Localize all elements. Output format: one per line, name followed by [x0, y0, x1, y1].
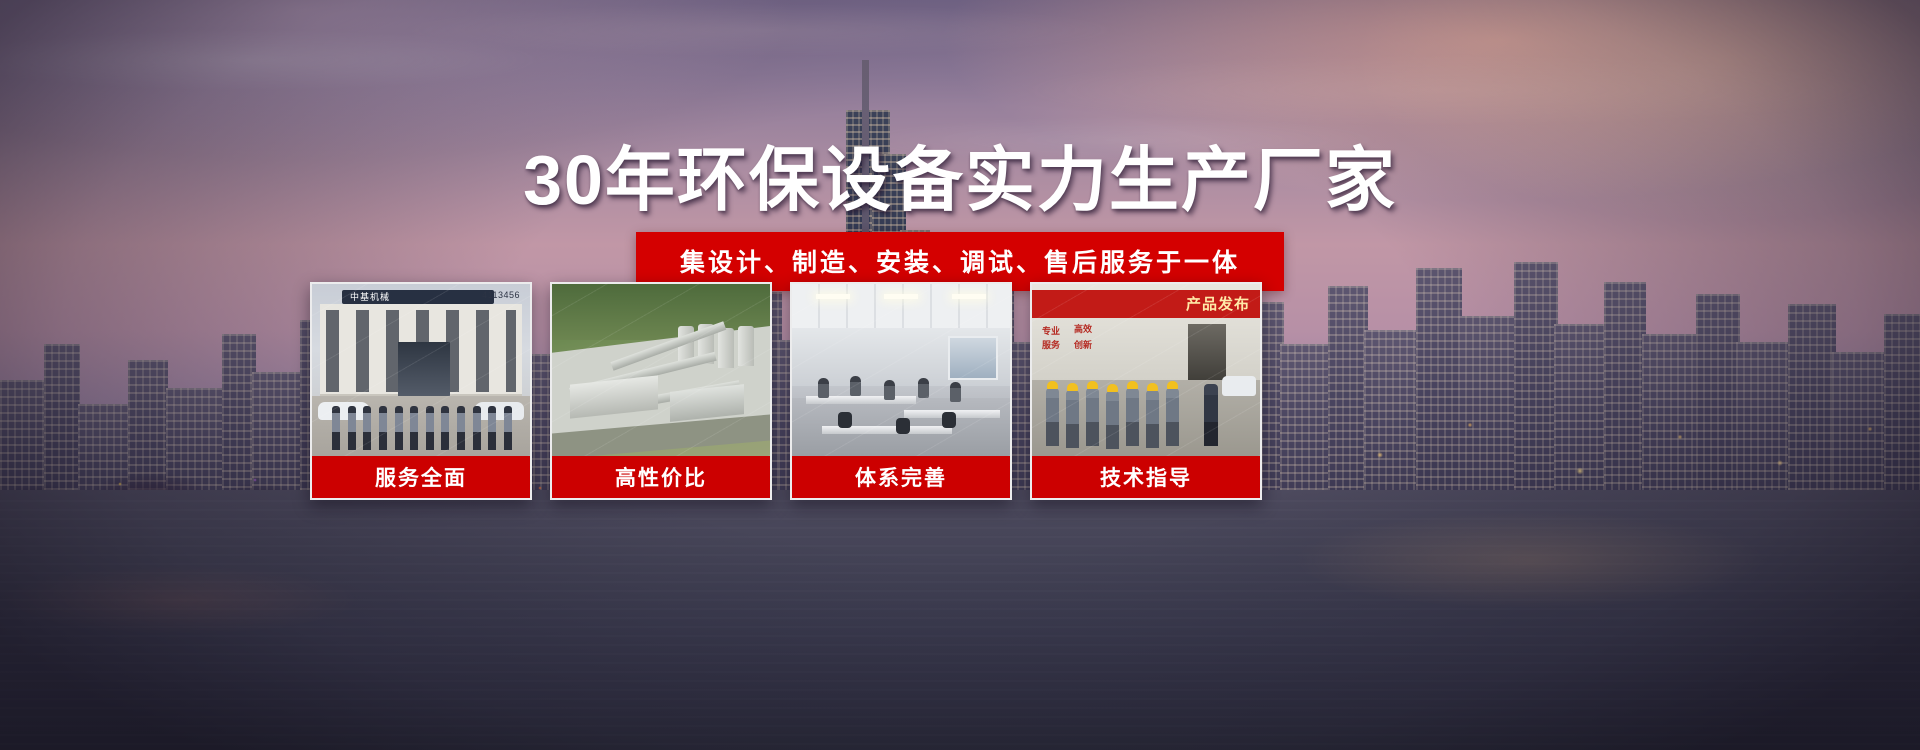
card-photo: 产品发布 专业 服务 高效 创新: [1032, 284, 1260, 456]
card-caption: 体系完善: [792, 456, 1010, 498]
company-sign-text: 中基机械: [350, 291, 390, 303]
banner-headline: 30年环保设备实力生产厂家: [523, 145, 1397, 215]
hero-banner: 30年环保设备实力生产厂家 集设计、制造、安装、调试、售后服务于一体 中基机械 …: [0, 0, 1920, 750]
feature-card[interactable]: 产品发布 专业 服务 高效 创新: [1030, 282, 1262, 500]
feature-card-row: 中基机械 4113456 服务全面: [310, 282, 1610, 496]
feature-card[interactable]: 中基机械 4113456 服务全面: [310, 282, 532, 500]
feature-card[interactable]: 高性价比: [550, 282, 772, 500]
card-photo: [552, 284, 770, 456]
company-sign: 中基机械: [342, 290, 494, 304]
feature-card[interactable]: 体系完善: [790, 282, 1012, 500]
card-photo: [792, 284, 1010, 456]
workshop-banner: 产品发布: [1032, 290, 1260, 318]
card-caption: 技术指导: [1032, 456, 1260, 498]
phone-number-text: 4113456: [482, 290, 520, 300]
workshop-banner-text: 产品发布: [1186, 293, 1250, 314]
card-photo: 中基机械 4113456: [312, 284, 530, 456]
card-caption: 服务全面: [312, 456, 530, 498]
card-caption: 高性价比: [552, 456, 770, 498]
